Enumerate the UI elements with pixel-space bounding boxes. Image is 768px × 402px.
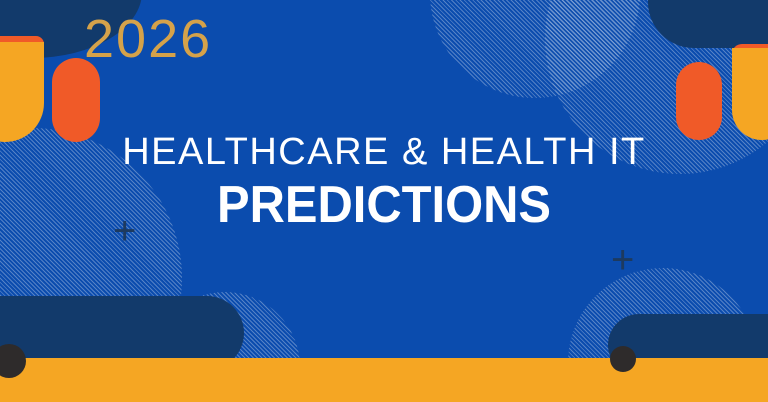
- predictions-banner: 2026 + + HEALTHCARE & HEALTH IT PREDICTI…: [0, 0, 768, 402]
- page-title: HEALTHCARE & HEALTH IT: [0, 133, 768, 173]
- year-label: 2026: [84, 8, 212, 70]
- title-block: HEALTHCARE & HEALTH IT PREDICTIONS: [0, 133, 768, 231]
- orange-pill-left: [52, 58, 100, 142]
- yellow-shape-right: [732, 48, 768, 140]
- dark-dot-right: [610, 346, 636, 372]
- orange-pill-right: [676, 62, 722, 140]
- page-subtitle: PREDICTIONS: [23, 179, 745, 231]
- bottom-yellow-band: [0, 358, 768, 402]
- plus-icon-right: +: [611, 240, 634, 280]
